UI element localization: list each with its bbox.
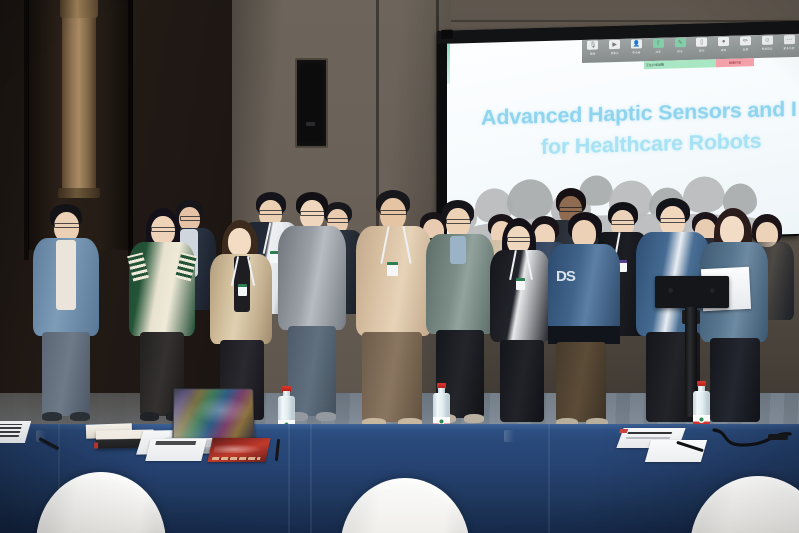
- red-flyer[interactable]: [207, 438, 270, 462]
- stop-sharing-button[interactable]: 结束共享: [716, 58, 754, 67]
- screen-edge-glow: [447, 44, 450, 84]
- loudspeaker-box: [655, 276, 729, 308]
- toolbar-label: 表情回应: [762, 46, 773, 50]
- stop-sharing-label: 结束共享: [729, 61, 741, 65]
- toolbar-item-record[interactable]: ● 录制: [713, 37, 735, 52]
- conference-photo-scene: 🎙 静音 ▶ 摄像头 👤 参会者 ⇧ 共享 ✎ 批注: [0, 0, 799, 533]
- participants-icon: 👤: [631, 39, 642, 48]
- slide-title-line-1: Advanced Haptic Sensors and I: [481, 96, 799, 130]
- speaker-driver: [709, 287, 716, 294]
- pencil-icon: ✎: [675, 38, 686, 47]
- lanyard-badge: [516, 278, 525, 290]
- toolbar-item-whiteboard[interactable]: ✏ 白板: [735, 36, 757, 51]
- bottle-logo-icon: [698, 416, 705, 423]
- toolbar-label: 参会者: [632, 50, 640, 54]
- toolbar-label: 更多功能: [783, 46, 794, 50]
- toolbar-item-microphone[interactable]: 🎙 静音: [582, 40, 604, 55]
- wall-speaker-icon: [295, 58, 328, 148]
- conference-toolbar[interactable]: 🎙 静音 ▶ 摄像头 👤 参会者 ⇧ 共享 ✎ 批注: [582, 34, 799, 63]
- toolbar-label: 摄像头: [611, 50, 619, 54]
- microphone-icon: 🎙: [587, 40, 598, 49]
- toolbar-label: 聊天: [699, 48, 705, 52]
- sharing-status-bar: 正在共享屏幕 结束共享: [644, 58, 754, 69]
- reactions-icon: ☺: [762, 36, 773, 45]
- jacket-logo: DS: [556, 268, 598, 286]
- sharing-status-text: 正在共享屏幕: [646, 63, 664, 68]
- toolbar-item-participants[interactable]: 👤 参会者: [626, 39, 648, 54]
- sharing-status-left: 正在共享屏幕: [644, 59, 716, 69]
- video-camera-icon: ▶: [609, 40, 620, 49]
- whiteboard-icon: ✏: [740, 36, 751, 45]
- share-screen-icon: ⇧: [653, 39, 664, 48]
- chat-icon: ▯: [696, 37, 707, 46]
- ellipsis-icon: ⋯: [784, 35, 795, 44]
- toolbar-label: 静音: [590, 51, 596, 55]
- record-icon: ●: [718, 37, 729, 46]
- toolbar-item-chat[interactable]: ▯ 聊天: [691, 37, 713, 52]
- microphone-cable[interactable]: [712, 428, 792, 450]
- toolbar-label: 共享: [655, 49, 661, 53]
- speaker-driver: [667, 287, 674, 294]
- toolbar-item-reactions[interactable]: ☺ 表情回应: [756, 35, 778, 50]
- cable-path: [712, 428, 792, 450]
- toolbar-label: 白板: [743, 47, 749, 51]
- lanyard-badge: [387, 262, 398, 276]
- printed-document[interactable]: [145, 439, 206, 461]
- toolbar-item-video-camera[interactable]: ▶ 摄像头: [604, 40, 626, 55]
- toolbar-label: 批注: [677, 49, 683, 53]
- paper-clip: [619, 429, 628, 433]
- lanyard-badge: [238, 284, 247, 296]
- screen-clamp: [441, 30, 453, 39]
- toolbar-item-share-screen[interactable]: ⇧ 共享: [647, 39, 669, 54]
- toolbar-label: 录制: [721, 47, 727, 51]
- laptop-screen: [172, 388, 254, 443]
- toolbar-item-more-options[interactable]: ⋯ 更多功能: [778, 35, 799, 50]
- toolbar-item-annotate[interactable]: ✎ 批注: [669, 38, 691, 53]
- wooden-column-cap: [60, 0, 98, 18]
